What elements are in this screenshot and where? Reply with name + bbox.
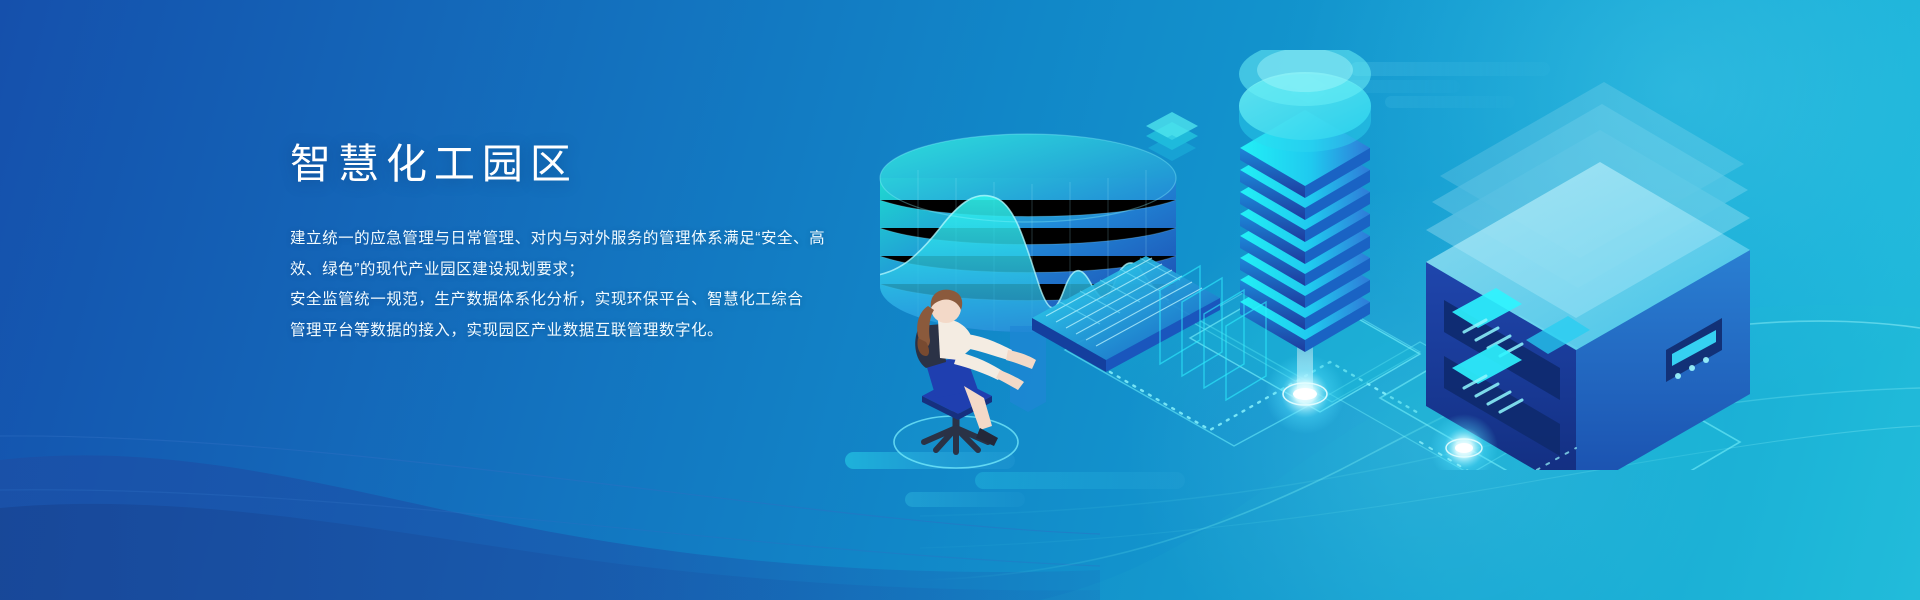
description-line: 安全监管统一规范，生产数据体系化分析，实现环保平台、智慧化工综合 xyxy=(290,285,910,316)
smart-chemical-park-illustration xyxy=(860,50,1920,470)
hero-content: 智慧化工园区 建立统一的应急管理与日常管理、对内与对外服务的管理体系满足“安全、… xyxy=(290,140,910,346)
server-rack xyxy=(1380,50,1750,470)
description-line: 建立统一的应急管理与日常管理、对内与对外服务的管理体系满足“安全、高 xyxy=(290,224,910,255)
hero-banner: 智慧化工园区 建立统一的应急管理与日常管理、对内与对外服务的管理体系满足“安全、… xyxy=(0,0,1920,600)
tower-node-glow xyxy=(1265,354,1345,434)
description-line: 管理平台等数据的接入，实现园区产业数据互联管理数字化。 xyxy=(290,316,910,347)
page-title: 智慧化工园区 xyxy=(290,140,910,188)
description-line: 效、绿色”的现代产业园区建设规划要求； xyxy=(290,255,910,286)
tower-cap xyxy=(1239,50,1371,152)
hero-description: 建立统一的应急管理与日常管理、对内与对外服务的管理体系满足“安全、高 效、绿色”… xyxy=(290,224,910,346)
